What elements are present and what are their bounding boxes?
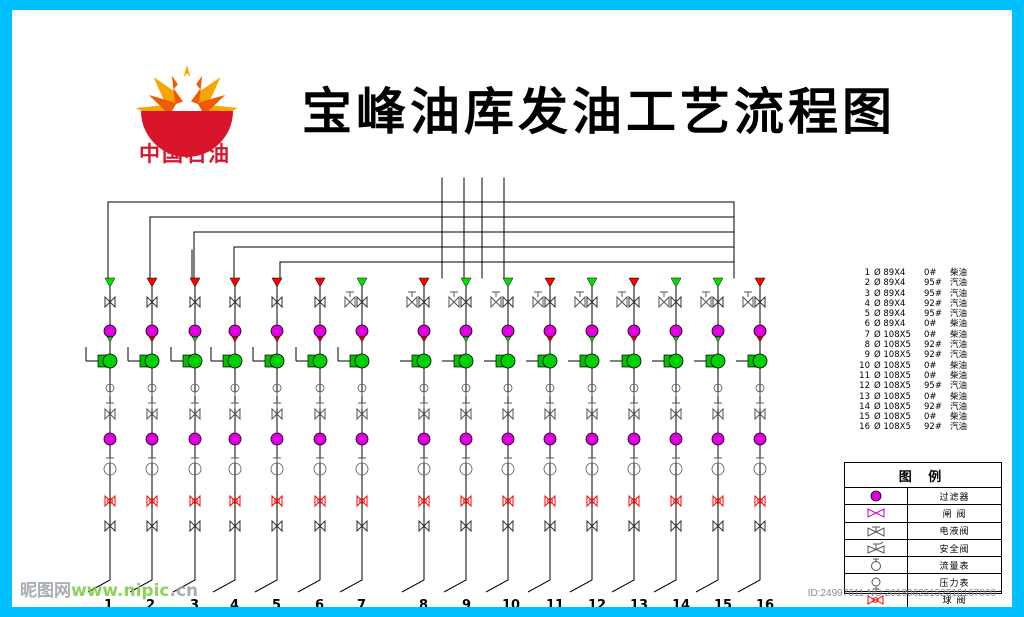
process-column-4 [211, 278, 242, 570]
legend-label: 安全阀 [908, 542, 1001, 555]
legend-label: 过滤器 [908, 490, 1001, 503]
watermark-text: 昵图网 [20, 581, 71, 601]
column-number: 11 [546, 598, 564, 607]
flow-meter-stem [546, 458, 554, 463]
column-number: 15 [714, 598, 732, 607]
filter-icon [229, 433, 241, 445]
safety-valve-stem [358, 403, 366, 409]
safety-valve-stem [630, 403, 638, 409]
legend-label: 流量表 [908, 559, 1001, 572]
valve-actuator [618, 292, 626, 297]
pump-icon [753, 354, 767, 368]
loading-arm [444, 570, 466, 592]
filter-icon [271, 433, 283, 445]
flow-arrow-top [315, 278, 325, 287]
safety-valve-stem [273, 403, 281, 409]
pump-icon [103, 354, 117, 368]
loading-arm [528, 570, 550, 592]
filter-icon [502, 325, 514, 337]
legend-row: 过滤器 [845, 488, 1001, 505]
process-column-1 [86, 278, 117, 570]
filter-icon [146, 433, 158, 445]
safety-valve-stem [106, 403, 114, 409]
filter-icon [356, 325, 368, 337]
process-column-6 [296, 278, 327, 570]
pump-icon [543, 354, 557, 368]
valve-actuator [534, 292, 542, 297]
safety-valve-stem [546, 403, 554, 409]
flow-meter-stem [420, 458, 428, 463]
valve-actuator [576, 292, 584, 297]
filter-icon [314, 325, 326, 337]
process-column-3 [171, 278, 202, 570]
process-column-16 [736, 278, 767, 570]
pump-icon [501, 354, 515, 368]
flow-meter-stem [714, 458, 722, 463]
pump-icon [459, 354, 473, 368]
pump-icon [669, 354, 683, 368]
filter-icon [146, 325, 158, 337]
valve-actuator [702, 292, 710, 297]
flow-meter-stem [756, 458, 764, 463]
safety-valve-stem [588, 403, 596, 409]
filter-icon [754, 325, 766, 337]
filter-icon [754, 433, 766, 445]
solenoid-valve-icon [407, 297, 417, 307]
pump-icon [270, 354, 284, 368]
flow-meter-stem [316, 458, 324, 463]
flow-arrow-top [272, 278, 282, 287]
loading-arm [654, 570, 676, 592]
filter-icon [712, 325, 724, 337]
legend-row: 流量表 [845, 557, 1001, 574]
pump-icon [585, 354, 599, 368]
solenoid-valve-icon [533, 297, 543, 307]
flow-arrow-top [230, 278, 240, 287]
solenoid-valve-icon [491, 297, 501, 307]
legend-row: 安全阀 [845, 540, 1001, 557]
loading-arm [738, 570, 760, 592]
filter-icon [586, 433, 598, 445]
valve-actuator [450, 292, 458, 297]
filter-icon [104, 433, 116, 445]
legend-label: 电液阀 [908, 524, 1001, 537]
solenoid-valve-icon [701, 297, 711, 307]
valve-actuator [408, 292, 416, 297]
valve-actuator [744, 292, 752, 297]
process-column-9 [442, 278, 473, 570]
filter-icon [712, 433, 724, 445]
filter-icon [418, 325, 430, 337]
watermark-suffix: .cn [170, 581, 199, 601]
process-column-5 [253, 278, 284, 570]
flow-meter-icon [845, 557, 908, 573]
filter-icon [229, 325, 241, 337]
flow-arrow-top [713, 278, 723, 287]
process-column-13 [610, 278, 641, 570]
legend-row: 闸 阀 [845, 505, 1001, 522]
solenoid-valve-icon [659, 297, 669, 307]
filter-icon [544, 433, 556, 445]
safety-valve-stem [420, 403, 428, 409]
flow-arrow-top [357, 278, 367, 287]
process-column-12 [568, 278, 599, 570]
legend-row: 电液阀 [845, 523, 1001, 540]
flow-arrow-top [671, 278, 681, 287]
flow-meter-stem [358, 458, 366, 463]
safety-valve-stem [756, 403, 764, 409]
filter-icon [586, 325, 598, 337]
safety-valve-stem [504, 403, 512, 409]
flow-arrow-top [105, 278, 115, 287]
column-number: 4 [230, 598, 239, 607]
loading-arm [402, 570, 424, 592]
legend-box: 图 例 过滤器 闸 阀 电液阀 [844, 462, 1002, 594]
flow-arrow-top [503, 278, 513, 287]
column-number: 14 [672, 598, 690, 607]
pump-icon [228, 354, 242, 368]
loading-arm [213, 570, 235, 592]
filter-icon [670, 433, 682, 445]
pump-icon [417, 354, 431, 368]
loading-arm [570, 570, 592, 592]
solenoid-valve-icon [449, 297, 459, 307]
filter-icon [502, 433, 514, 445]
solenoid-valve-icon [845, 523, 908, 539]
valve-actuator [660, 292, 668, 297]
column-number: 16 [756, 598, 774, 607]
column-number: 7 [357, 598, 366, 607]
watermark: 昵图网www.nipic.cn [20, 576, 198, 601]
flow-arrow-top [755, 278, 765, 287]
loading-arm [255, 570, 277, 592]
filter-icon [670, 325, 682, 337]
column-number: 6 [315, 598, 324, 607]
loading-arm [486, 570, 508, 592]
column-number: 9 [462, 598, 471, 607]
image-id-line: ID:24997611 NO:20180625152510167000 [808, 588, 996, 599]
flow-meter-stem [504, 458, 512, 463]
flow-arrow-top [147, 278, 157, 287]
safety-valve-stem [191, 403, 199, 409]
pump-icon [188, 354, 202, 368]
safety-valve-stem [714, 403, 722, 409]
pump-icon [627, 354, 641, 368]
column-number: 13 [630, 598, 648, 607]
flow-meter-stem [231, 458, 239, 463]
flow-arrow-top [545, 278, 555, 287]
flow-meter-stem [672, 458, 680, 463]
pump-icon [313, 354, 327, 368]
pump-icon [711, 354, 725, 368]
process-column-7 [338, 278, 369, 570]
loading-arm [696, 570, 718, 592]
filter-icon [189, 325, 201, 337]
solenoid-valve-icon [575, 297, 585, 307]
valve-actuator [492, 292, 500, 297]
flow-meter-stem [273, 458, 281, 463]
solenoid-valve-icon [743, 297, 753, 307]
process-column-10 [484, 278, 515, 570]
watermark-url: www.nipic [71, 581, 170, 601]
flow-meter-stem [191, 458, 199, 463]
filter-icon [189, 433, 201, 445]
filter-icon [460, 433, 472, 445]
safety-valve-icon [845, 540, 908, 556]
filter-icon [628, 433, 640, 445]
flow-meter-stem [588, 458, 596, 463]
safety-valve-stem [672, 403, 680, 409]
pump-icon [145, 354, 159, 368]
flow-meter-stem [462, 458, 470, 463]
process-column-11 [526, 278, 557, 570]
process-column-2 [128, 278, 159, 570]
flow-meter-stem [106, 458, 114, 463]
process-column-15 [694, 278, 725, 570]
legend-title: 图 例 [845, 463, 1001, 488]
legend-label: 闸 阀 [908, 507, 1001, 520]
filter-icon [104, 325, 116, 337]
loading-arm [298, 570, 320, 592]
filter-icon [628, 325, 640, 337]
filter-icon [418, 433, 430, 445]
pump-icon [355, 354, 369, 368]
process-column-14 [652, 278, 683, 570]
flow-arrow-top [461, 278, 471, 287]
loading-arm [340, 570, 362, 592]
diagram-canvas: 中国石油 宝峰油库发油工艺流程图 1Ø 89X40#柴油 2Ø 89X495#汽… [12, 10, 1012, 607]
column-number: 10 [502, 598, 520, 607]
solenoid-valve-icon [345, 297, 355, 307]
filter-icon [356, 433, 368, 445]
filter-icon [845, 488, 908, 504]
solenoid-valve-icon [617, 297, 627, 307]
loading-arm [612, 570, 634, 592]
flow-arrow-top [419, 278, 429, 287]
process-column-8 [400, 278, 431, 570]
filter-icon [271, 325, 283, 337]
flow-meter-stem [148, 458, 156, 463]
safety-valve-stem [148, 403, 156, 409]
gate-valve-icon [845, 505, 908, 521]
flow-arrow-top [190, 278, 200, 287]
safety-valve-stem [316, 403, 324, 409]
flow-arrow-top [587, 278, 597, 287]
flow-arrow-top [629, 278, 639, 287]
filter-icon [544, 325, 556, 337]
filter-icon [460, 325, 472, 337]
valve-actuator [346, 292, 354, 297]
column-number: 8 [419, 598, 428, 607]
column-number: 12 [588, 598, 606, 607]
safety-valve-stem [231, 403, 239, 409]
column-number: 5 [272, 598, 281, 607]
flow-meter-stem [630, 458, 638, 463]
safety-valve-stem [462, 403, 470, 409]
filter-icon [314, 433, 326, 445]
